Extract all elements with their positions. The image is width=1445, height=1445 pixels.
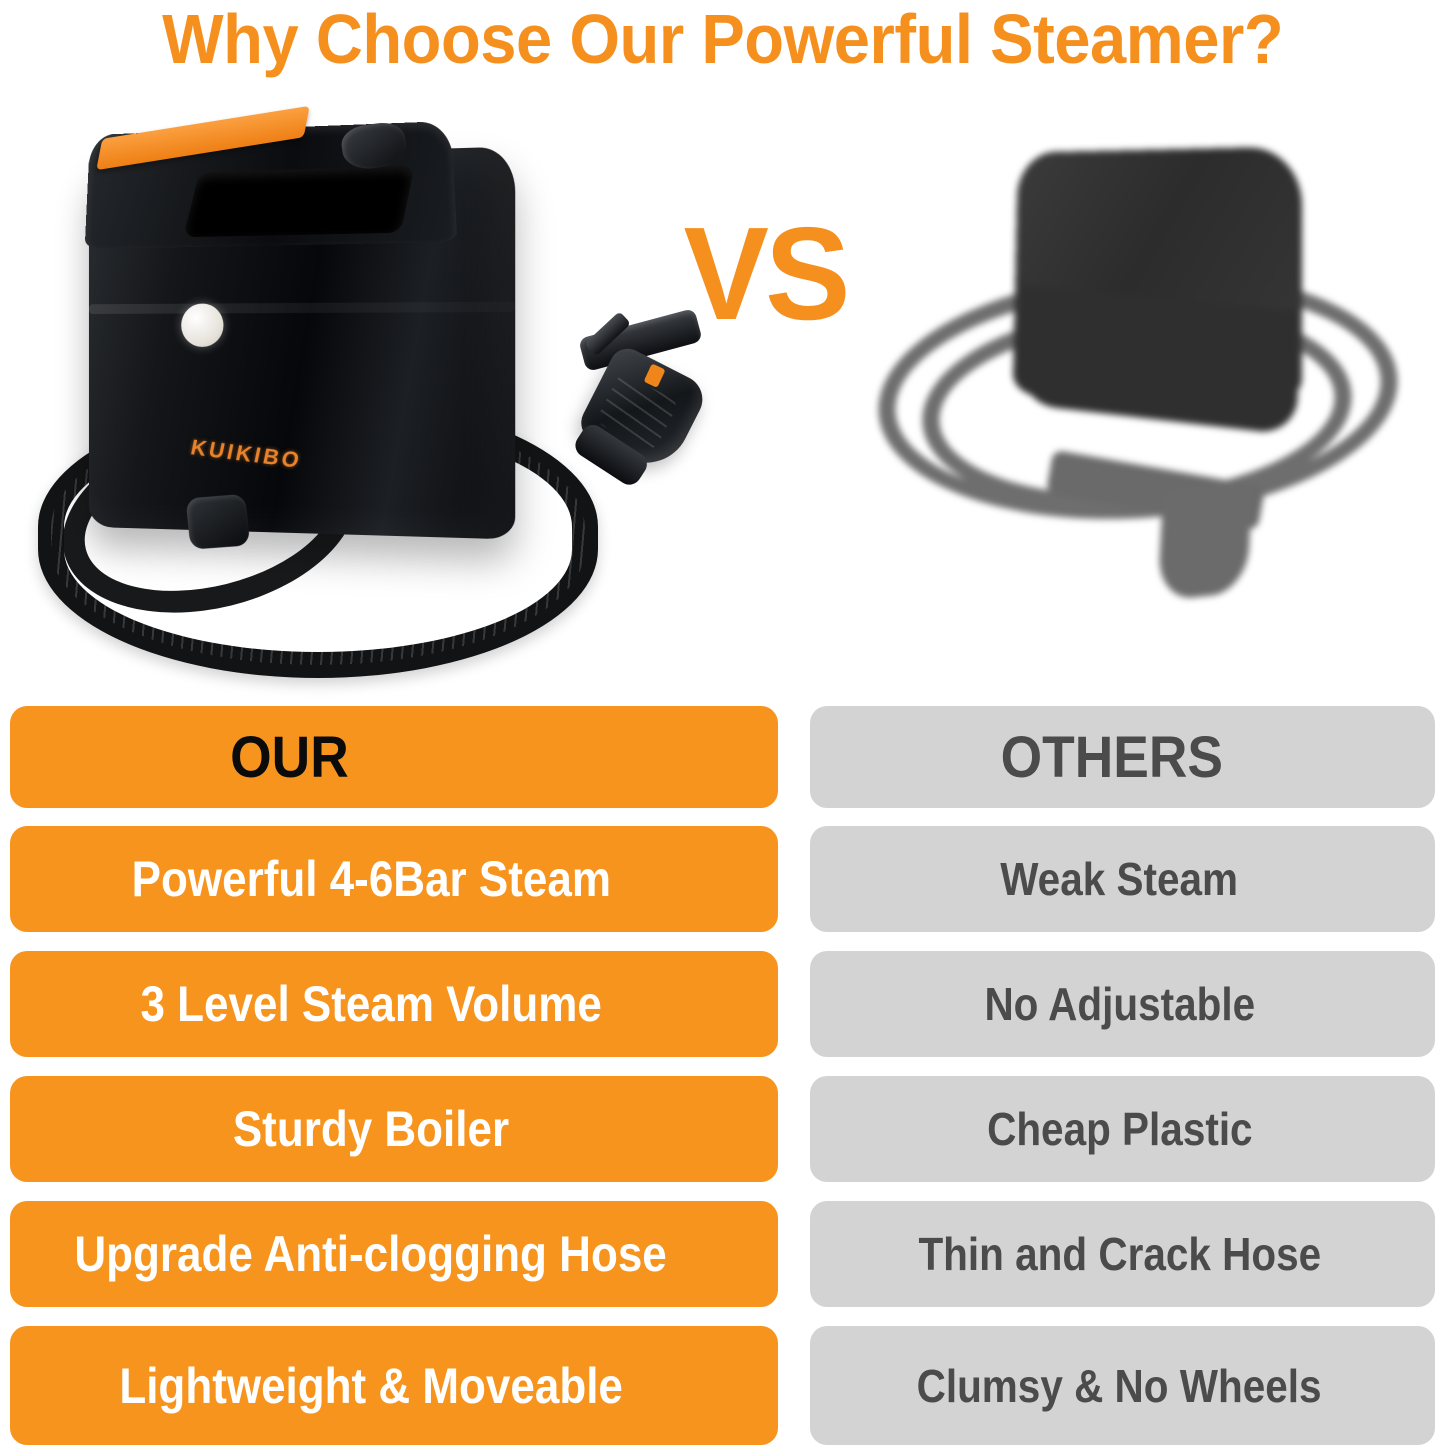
feature-label-our-2: 3 Level Steam Volume <box>140 975 601 1033</box>
feature-label-other-5: Clumsy & No Wheels <box>917 1359 1322 1413</box>
feature-cell-our-3: Sturdy Boiler <box>10 1076 778 1182</box>
feature-cell-other-2: No Adjustable <box>810 951 1435 1057</box>
hero-comparison-visual: KUIKIBO VS <box>0 78 1445 690</box>
our-product-image: KUIKIBO <box>20 98 720 673</box>
feature-cell-our-5: Lightweight & Moveable <box>10 1326 778 1445</box>
feature-label-other-2: No Adjustable <box>984 977 1255 1031</box>
hose-port-icon <box>185 494 250 550</box>
competitor-nozzle-head-icon <box>1157 481 1252 602</box>
feature-cell-other-3: Cheap Plastic <box>810 1076 1435 1182</box>
indicator-light-icon <box>181 303 223 347</box>
feature-cell-other-1: Weak Steam <box>810 826 1435 932</box>
column-header-our: OUR <box>10 706 778 808</box>
feature-label-other-4: Thin and Crack Hose <box>918 1227 1321 1281</box>
versus-label: VS <box>683 208 846 340</box>
page-title: Why Choose Our Powerful Steamer? <box>162 3 1283 75</box>
feature-label-our-1: Powerful 4-6Bar Steam <box>131 850 610 908</box>
brand-logo-text: KUIKIBO <box>188 435 304 474</box>
table-row: Sturdy Boiler Cheap Plastic <box>0 1076 1445 1188</box>
feature-cell-our-2: 3 Level Steam Volume <box>10 951 778 1057</box>
feature-label-our-5: Lightweight & Moveable <box>119 1357 623 1415</box>
steamer-top-slot <box>183 166 414 238</box>
competitor-product-image <box>860 118 1440 663</box>
feature-cell-our-1: Powerful 4-6Bar Steam <box>10 826 778 932</box>
feature-label-our-4: Upgrade Anti-clogging Hose <box>75 1225 667 1283</box>
column-header-others: OTHERS <box>810 706 1435 808</box>
versus-badge: VS <box>640 204 890 344</box>
feature-cell-other-5: Clumsy & No Wheels <box>810 1326 1435 1445</box>
feature-label-our-3: Sturdy Boiler <box>233 1100 509 1158</box>
feature-cell-our-4: Upgrade Anti-clogging Hose <box>10 1201 778 1307</box>
feature-label-other-1: Weak Steam <box>1001 852 1239 906</box>
table-row: Lightweight & Moveable Clumsy & No Wheel… <box>0 1326 1445 1445</box>
feature-label-other-3: Cheap Plastic <box>987 1102 1252 1156</box>
table-row: Upgrade Anti-clogging Hose Thin and Crac… <box>0 1201 1445 1313</box>
page-title-bar: Why Choose Our Powerful Steamer? <box>0 0 1445 78</box>
feature-cell-other-4: Thin and Crack Hose <box>810 1201 1435 1307</box>
table-row: 3 Level Steam Volume No Adjustable <box>0 951 1445 1063</box>
column-header-others-label: OTHERS <box>1000 724 1222 791</box>
table-header-row: OUR OTHERS <box>0 706 1445 818</box>
table-row: Powerful 4-6Bar Steam Weak Steam <box>0 826 1445 938</box>
competitor-steamer-body <box>1013 146 1302 402</box>
column-header-our-label: OUR <box>230 724 349 791</box>
comparison-table: OUR OTHERS Powerful 4-6Bar Steam Weak St… <box>0 706 1445 1445</box>
